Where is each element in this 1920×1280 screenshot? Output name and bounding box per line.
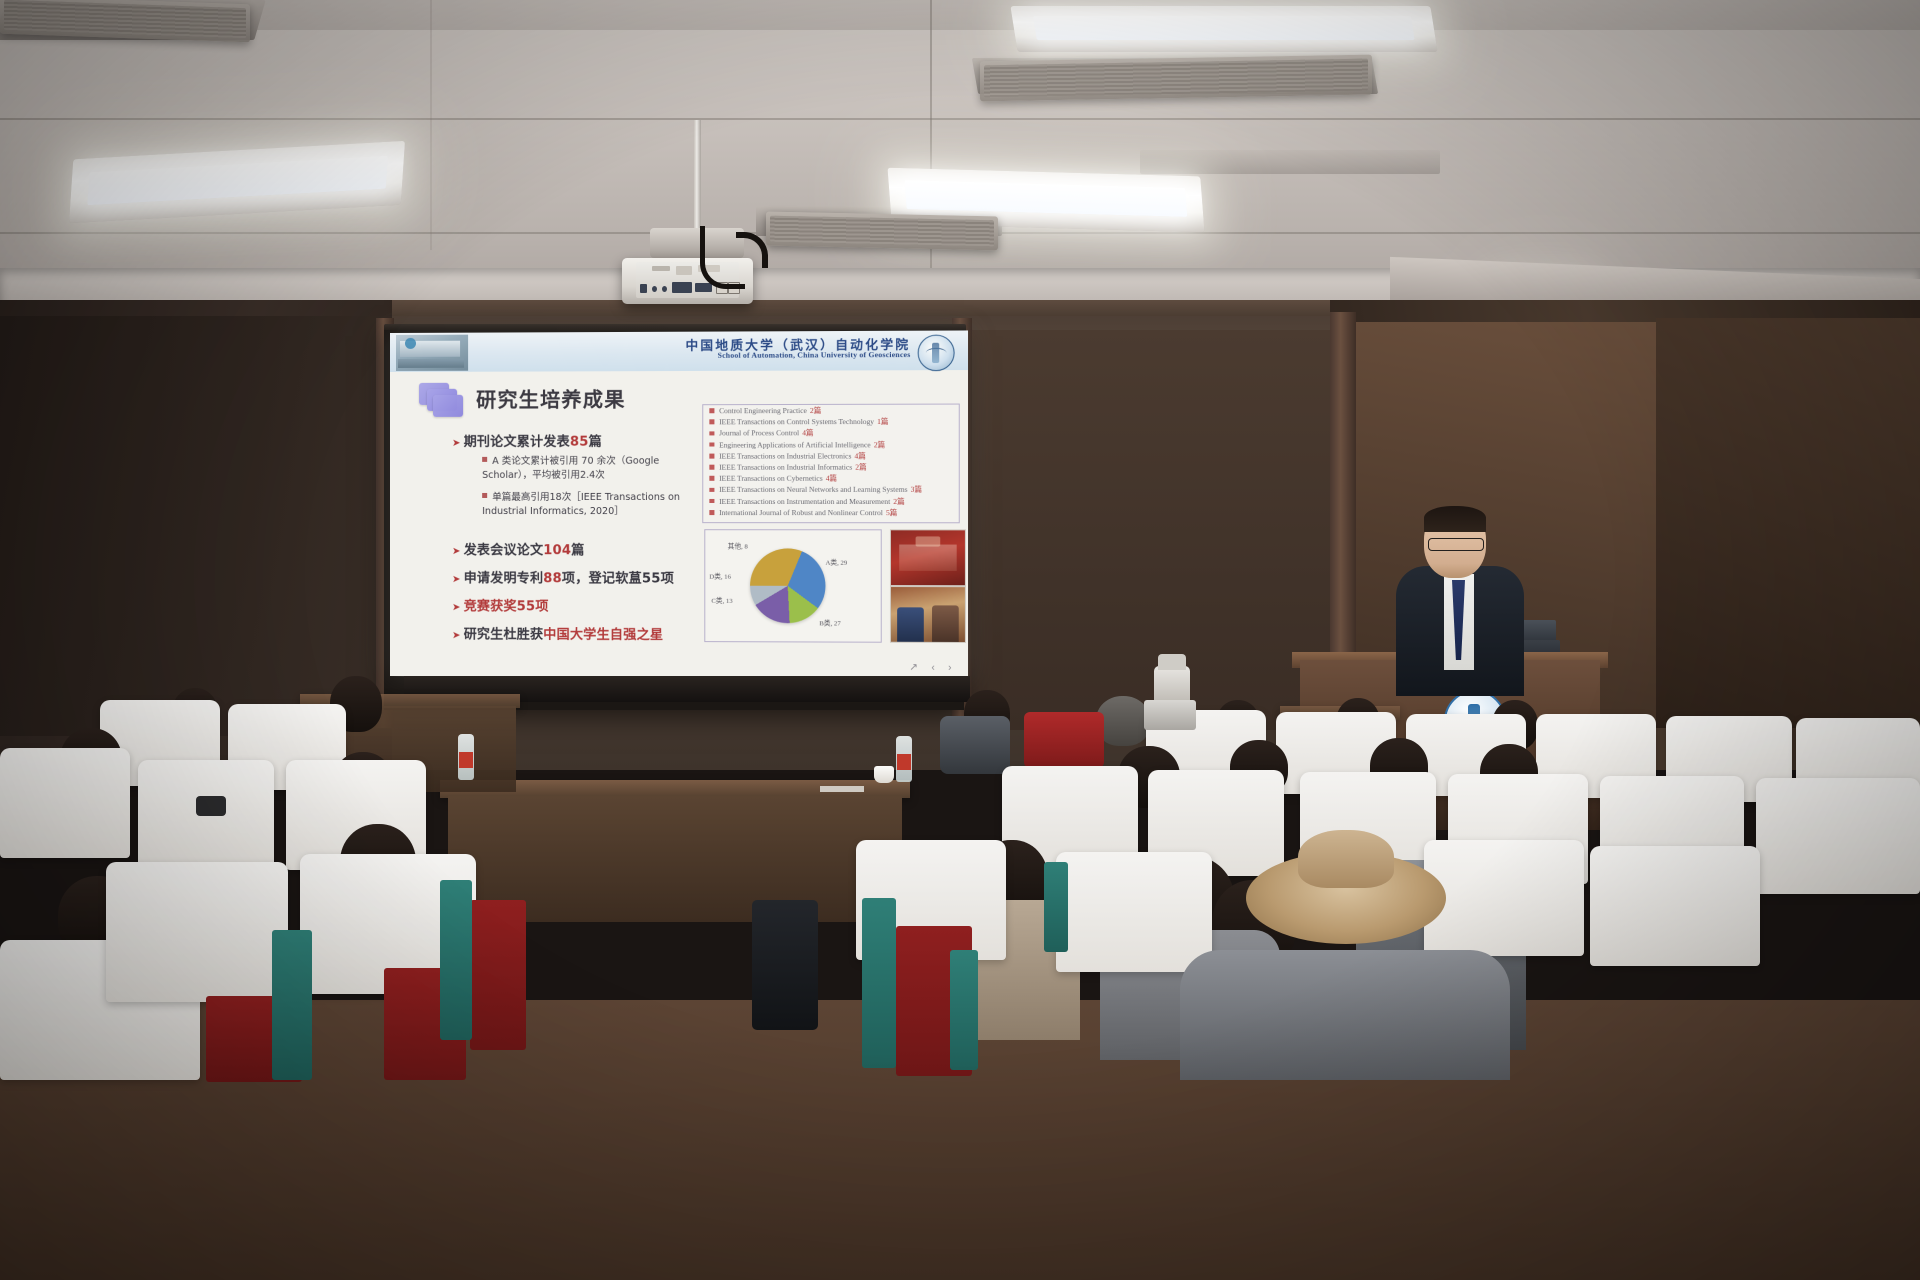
journal-count: 3篇 — [911, 484, 922, 495]
projector-vga-port — [672, 282, 692, 293]
attendee-head — [1096, 696, 1150, 746]
slide-nav-controls[interactable]: ↗ ‹ › — [909, 662, 951, 673]
slide-title: 研究生培养成果 — [476, 383, 626, 413]
pie-label-b: B类, 27 — [819, 617, 840, 627]
chair-frame — [862, 898, 896, 1068]
journal-list-item: Engineering Applications of Artificial I… — [703, 439, 958, 451]
journal-name: IEEE Transactions on Cybernetics — [719, 474, 823, 483]
ceiling-seam — [0, 118, 1920, 120]
bullet-patents: ➤申请发明专利88项，登记软蒀55项 — [452, 567, 674, 586]
chair-cover — [1424, 840, 1584, 956]
journal-list-item: Journal of Process Control 4篇 — [703, 427, 958, 439]
chair-cover — [1590, 846, 1760, 966]
projector-screen: 中国地质大学（武汉）自动化学院 School of Automation, Ch… — [390, 330, 968, 678]
journal-name: IEEE Transactions on Control Systems Tec… — [719, 417, 874, 426]
slide-header: 中国地质大学（武汉）自动化学院 School of Automation, Ch… — [390, 330, 968, 372]
bullet-conference-papers: ➤发表会议论文104篇 — [452, 539, 585, 558]
attendee-red-jacket — [1024, 712, 1104, 768]
pie-label-d: D类, 16 — [709, 571, 731, 581]
journal-list-item: IEEE Transactions on Neural Networks and… — [703, 484, 958, 495]
square-bullet-icon — [482, 493, 487, 498]
bullet-competition-awards: ➤竞赛获奖55项 — [452, 595, 549, 614]
campus-badge-icon — [405, 338, 416, 349]
award-ceremony-photo — [890, 529, 966, 586]
journal-list-item: IEEE Transactions on Cybernetics 4篇 — [703, 473, 958, 484]
light-housing — [1140, 150, 1440, 174]
journal-list-item: IEEE Transactions on Control Systems Tec… — [703, 416, 958, 428]
journal-count: 2篇 — [855, 462, 866, 473]
square-bullet-icon — [709, 465, 714, 470]
presenter-hair — [1424, 506, 1486, 532]
water-bottle — [896, 736, 912, 782]
journal-count: 2篇 — [810, 405, 821, 416]
chevron-left-icon[interactable]: ‹ — [931, 662, 934, 673]
journal-count: 2篇 — [874, 439, 885, 450]
chair-frame — [272, 930, 312, 1080]
eyeglasses — [196, 796, 226, 816]
journal-list-item: Control Engineering Practice 2篇 — [703, 405, 958, 417]
projector-port — [676, 266, 692, 275]
bullet-citations: A 类论文累计被引用 70 余次（Google Scholar），平均被引用2.… — [482, 455, 684, 483]
right-wall-wood — [1656, 318, 1920, 728]
journal-name: IEEE Transactions on Industrial Informat… — [719, 463, 852, 472]
square-bullet-icon — [709, 431, 714, 436]
journal-count: 4篇 — [854, 450, 865, 461]
square-bullet-icon — [709, 442, 714, 447]
university-name-en: School of Automation, China University o… — [718, 350, 911, 360]
presentation-slide: 中国地质大学（武汉）自动化学院 School of Automation, Ch… — [390, 330, 968, 678]
journal-name: Engineering Applications of Artificial I… — [719, 440, 871, 449]
chair-frame — [440, 880, 472, 1040]
square-bullet-icon — [709, 476, 714, 481]
ceiling-speaker — [980, 55, 1372, 102]
straw-hat — [1246, 852, 1446, 944]
bullet-journal-papers: ➤期刊论文累计发表85篇 — [452, 431, 602, 450]
laptop-in-audience — [1144, 700, 1196, 730]
presenter-glasses — [1428, 538, 1484, 551]
projector-port — [640, 284, 647, 293]
square-bullet-icon — [709, 510, 714, 515]
journal-count: 2篇 — [893, 495, 904, 506]
journal-name: Control Engineering Practice — [719, 406, 807, 415]
square-bullet-icon — [482, 457, 487, 462]
university-logo-icon — [918, 335, 955, 372]
arrow-bullet-icon: ➤ — [452, 630, 461, 641]
left-wall-panel — [0, 316, 392, 736]
chair-frame — [950, 950, 978, 1070]
journal-count: 5篇 — [886, 507, 897, 518]
slide-title-icon — [419, 383, 463, 417]
water-bottle — [458, 734, 474, 780]
square-bullet-icon — [709, 499, 714, 504]
journal-list-item: International Journal of Robust and Nonl… — [703, 507, 958, 518]
square-bullet-icon — [709, 487, 714, 492]
journal-name: IEEE Transactions on Industrial Electron… — [719, 451, 851, 460]
arrow-bullet-icon: ➤ — [452, 546, 461, 557]
paper-class-pie-chart: A类, 29 B类, 27 C类, 13 D类, 16 其他, 8 — [704, 529, 881, 643]
chair-cover — [106, 862, 288, 1002]
attendee-body — [1180, 950, 1510, 1080]
chair-cover — [1756, 778, 1920, 894]
ceiling-light — [1010, 6, 1437, 52]
bullet-top-cited: 单篇最高引用18次［IEEE Transactions on Industria… — [482, 491, 689, 519]
chair-cover — [1056, 852, 1212, 972]
journal-name: IEEE Transactions on Instrumentation and… — [719, 496, 890, 505]
projector-label — [652, 266, 670, 271]
journal-name: Journal of Process Control — [719, 429, 799, 438]
arrow-bullet-icon: ➤ — [452, 602, 461, 613]
journal-publication-list: Control Engineering Practice 2篇IEEE Tran… — [702, 404, 960, 524]
chair-back — [470, 900, 526, 1050]
pie-label-c: C类, 13 — [711, 595, 732, 605]
square-bullet-icon — [709, 420, 714, 425]
square-bullet-icon — [709, 454, 714, 459]
ceiling-panel — [0, 0, 1920, 30]
journal-list-item: IEEE Transactions on Industrial Informat… — [703, 461, 958, 473]
pie-graphic — [750, 548, 825, 623]
chair-frame — [1044, 862, 1068, 952]
square-bullet-icon — [709, 409, 714, 414]
projector-port — [652, 286, 657, 292]
team-photo — [890, 586, 966, 643]
chair-cover — [0, 748, 130, 858]
journal-name: IEEE Transactions on Neural Networks and… — [719, 485, 907, 494]
ceiling-seam — [430, 0, 432, 250]
pie-label-other: 其他, 8 — [728, 540, 748, 550]
journal-count: 4篇 — [826, 473, 837, 484]
arrow-bullet-icon: ➤ — [452, 438, 461, 449]
arrow-bullet-icon: ➤ — [452, 574, 461, 585]
projector-port — [662, 286, 667, 292]
ceiling-speaker — [766, 212, 998, 251]
backpack — [752, 900, 818, 1030]
pie-label-a: A类, 29 — [825, 557, 847, 567]
journal-list-item: IEEE Transactions on Instrumentation and… — [703, 495, 958, 506]
chevron-right-icon[interactable]: › — [948, 662, 951, 673]
projector-vga-port — [695, 283, 712, 292]
paper-sheet — [820, 786, 864, 792]
bullet-student-award: ➤研究生杜胜获中国大学生自强之星 — [452, 623, 663, 643]
share-icon[interactable]: ↗ — [909, 662, 918, 673]
journal-count: 1篇 — [877, 416, 888, 427]
paper-cup — [874, 766, 894, 783]
journal-name: International Journal of Robust and Nonl… — [719, 508, 883, 517]
lecture-hall-scene: 中国地质大学（武汉）自动化学院 School of Automation, Ch… — [0, 0, 1920, 1280]
camera-device — [1158, 654, 1186, 670]
attendee-body — [940, 716, 1010, 774]
journal-count: 4篇 — [802, 428, 813, 439]
journal-list-item: IEEE Transactions on Industrial Electron… — [703, 450, 958, 462]
campus-photo — [396, 335, 468, 371]
